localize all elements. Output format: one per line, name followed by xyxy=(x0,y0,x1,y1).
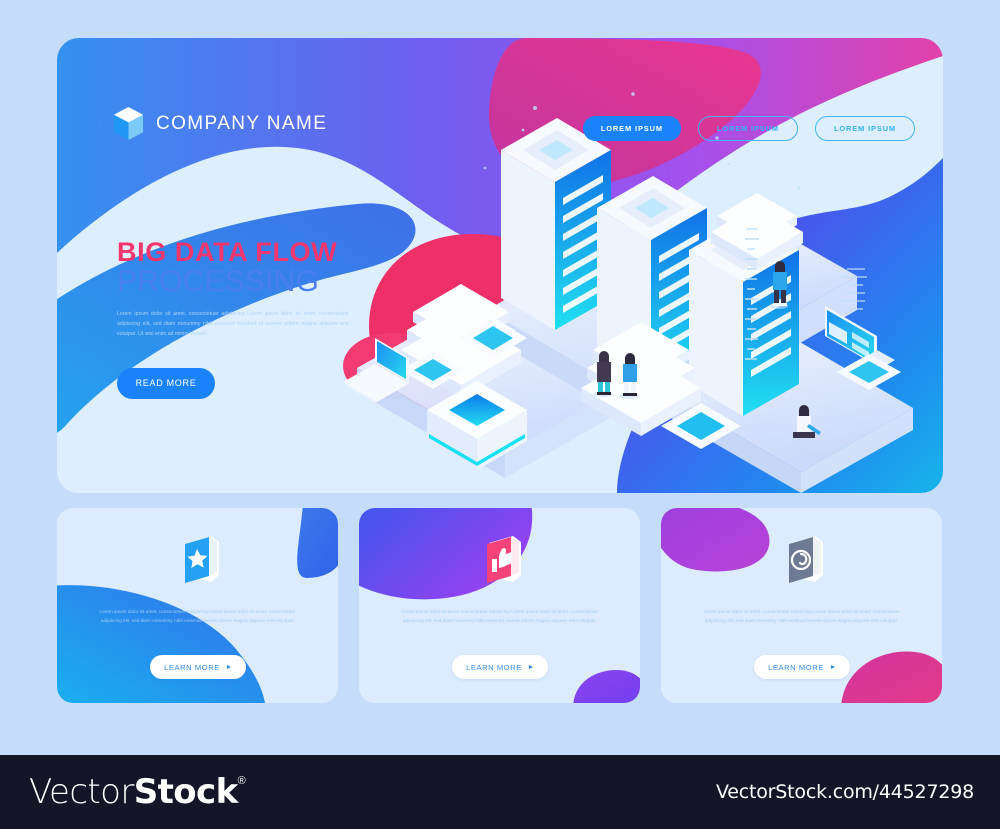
watermark-footer: Vector Stock ® VectorStock.com/44527298 xyxy=(0,755,1000,829)
card-3-learn-more-button[interactable]: LEARN MORE xyxy=(754,655,850,679)
nav-button-1[interactable]: LOREM IPSUM xyxy=(583,116,681,141)
hero-text-block: BIG DATA FLOW PROCESSING Lorem ipsum dol… xyxy=(117,238,407,399)
card-3-paragraph: Lorem ipsum dolor sit amet, consectetuer… xyxy=(700,608,903,626)
card-1-learn-more-button[interactable]: LEARN MORE xyxy=(150,655,246,679)
page-root: COMPANY NAME LOREM IPSUM LOREM IPSUM LOR… xyxy=(0,0,1000,829)
company-logo[interactable]: COMPANY NAME xyxy=(112,105,327,142)
vectorstock-logo-part2: Stock xyxy=(134,772,238,812)
hero-title-line-2: PROCESSING xyxy=(117,266,407,298)
nav-button-2[interactable]: LOREM IPSUM xyxy=(698,116,798,141)
feature-cards: Lorem ipsum dolor sit amet, consectetuer… xyxy=(57,508,943,703)
hero-banner: COMPANY NAME LOREM IPSUM LOREM IPSUM LOR… xyxy=(57,38,943,493)
card-1-learn-more-label: LEARN MORE xyxy=(164,663,220,672)
hero-nav: LOREM IPSUM LOREM IPSUM LOREM IPSUM xyxy=(583,116,915,141)
card-3-learn-more-label: LEARN MORE xyxy=(768,663,824,672)
nav-button-3[interactable]: LOREM IPSUM xyxy=(815,116,915,141)
isometric-cube-icon xyxy=(112,105,145,142)
vectorstock-url: VectorStock.com/44527298 xyxy=(716,781,974,803)
hero-title-line-1: BIG DATA FLOW xyxy=(117,238,407,267)
read-more-button[interactable]: READ MORE xyxy=(117,368,215,399)
company-name-text: COMPANY NAME xyxy=(156,113,327,135)
card-2-paragraph: Lorem ipsum dolor sit amet, consectetuer… xyxy=(398,608,601,626)
card-2-learn-more-label: LEARN MORE xyxy=(466,663,522,672)
card-2-learn-more-button[interactable]: LEARN MORE xyxy=(452,655,548,679)
star-card-icon xyxy=(171,532,225,590)
play-arrow-icon xyxy=(227,665,231,669)
hero-paragraph: Lorem ipsum dolor sit amet, consectetuer… xyxy=(117,310,349,339)
feature-card-3[interactable]: Lorem ipsum dolor sit amet, consectetuer… xyxy=(661,508,942,703)
play-arrow-icon xyxy=(529,665,533,669)
registered-mark: ® xyxy=(238,775,246,787)
vectorstock-logo-part1: Vector xyxy=(29,772,134,812)
thumbs-up-card-icon xyxy=(473,532,527,590)
feature-card-1[interactable]: Lorem ipsum dolor sit amet, consectetuer… xyxy=(57,508,338,703)
card-1-paragraph: Lorem ipsum dolor sit amet, consectetuer… xyxy=(96,608,299,626)
play-arrow-icon xyxy=(831,665,835,669)
vectorstock-logo: Vector Stock ® xyxy=(29,772,246,812)
fingerprint-card-icon xyxy=(775,532,829,590)
feature-card-2[interactable]: Lorem ipsum dolor sit amet, consectetuer… xyxy=(359,508,640,703)
